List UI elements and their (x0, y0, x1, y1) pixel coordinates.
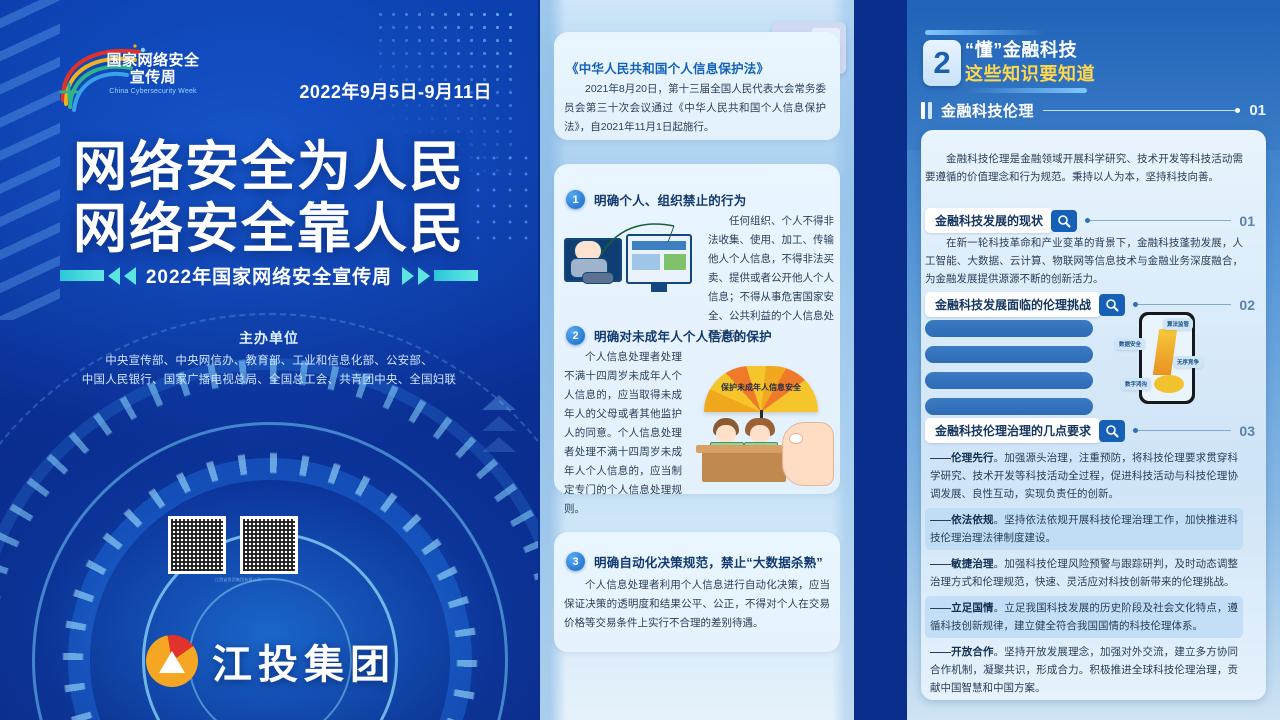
decorative-arrows (482, 395, 516, 452)
subsection-3-number: 03 (1239, 423, 1255, 439)
headline-line-2: 网络安全靠人民 (0, 198, 538, 260)
poster-collage: 国家网络安全 宣传周 China Cybersecurity Week 2022… (0, 0, 1280, 720)
law-body: 2021年8月20日，第十三届全国人民代表大会常务委员会第三十次会议通过《中华人… (564, 80, 826, 137)
subsection-3-header: 金融科技伦理治理的几点要求 03 (925, 418, 1255, 443)
ribbon-text: 2022年国家网络安全宣传周 (146, 262, 392, 289)
placeholder-bar (925, 320, 1093, 337)
placeholder-bar (925, 372, 1093, 389)
requirement-key: 依法依规 (951, 514, 994, 526)
phone-tag-3: 无序竞争 (1173, 356, 1203, 368)
qr-code-row (168, 516, 298, 574)
decorative-bar-under-title (967, 88, 1087, 93)
item-1-title: 明确个人、组织禁止的行为 (594, 190, 746, 209)
item-2-title: 明确对未成年人个人信息的保护 (594, 326, 772, 345)
fintech-intro-text: 金融科技伦理是金融领域开展科学研究、技术开发等科技活动需要遵循的价值理念和行为规… (925, 150, 1243, 186)
item-2-body: 个人信息处理者处理不满十四周岁未成年人个人信息的，应当取得未成年人的父母或者其他… (564, 348, 682, 519)
heading-mark-icon (921, 102, 932, 119)
requirement-item: ——开放合作。坚持开放发展理念，加强对外交流，建立多方协同合作机制，凝聚共识，形… (925, 640, 1243, 700)
hand-holding-umbrella (782, 422, 834, 486)
minors-protection-illustration: 保护未成年人信息安全 (690, 360, 840, 488)
panel3-title-line2: 这些知识要知道 (965, 60, 1095, 86)
qr-code-right[interactable] (240, 516, 298, 574)
requirement-item: ——伦理先行。加强源头治理，注重预防，将科技伦理要求贯穿科学研究、技术开发等科技… (925, 446, 1243, 506)
requirement-key: 开放合作 (951, 646, 994, 658)
cybersecurity-week-logo: 国家网络安全 宣传周 China Cybersecurity Week (55, 42, 205, 114)
panel3-title-line1: “懂”金融科技 (965, 36, 1077, 62)
phone-illustration: 算法监管 数据安全 无序竞争 数字鸿沟 (1115, 312, 1245, 416)
requirement-item: ——立足国情。立足我国科技发展的历史阶段及社会文化特点，遵循科技创新规律，建立健… (925, 596, 1243, 638)
magnifier-icon-3[interactable] (1099, 420, 1125, 442)
subsection-1-title: 金融科技发展的现状 (925, 208, 1053, 233)
list-item-2-header: 2 明确对未成年人个人信息的保护 (566, 326, 772, 345)
item-3-title: 明确自动化决策规范，禁止“大数据杀熟” (594, 552, 823, 571)
phone-tag-2: 数据安全 (1115, 338, 1145, 350)
section-number-badge: 2 (923, 40, 961, 86)
phone-tag-4: 数字鸿沟 (1121, 378, 1151, 390)
section-heading-number: 01 (1249, 102, 1266, 119)
brand-logo-icon (146, 635, 198, 687)
law-title: 《中华人民共和国个人信息保护法》 (566, 58, 769, 77)
requirement-key: 敏捷治理 (951, 558, 994, 570)
desk-shape (702, 452, 786, 482)
item-3-body: 个人信息处理者利用个人信息进行自动化决策，应当保证决策的透明度和结果公平、公正，… (564, 576, 830, 633)
requirement-key: 立足国情 (951, 602, 994, 614)
headline-line-1: 网络安全为人民 (0, 136, 538, 198)
subsection-3-title: 金融科技伦理治理的几点要求 (925, 418, 1101, 443)
panel-cybersecurity-week: 国家网络安全 宣传周 China Cybersecurity Week 2022… (0, 0, 538, 720)
requirement-item: ——敏捷治理。加强科技伦理风险预警与跟踪研判，及时动态调整治理方式和伦理规范，快… (925, 552, 1243, 594)
organizer-list: 中央宣传部、中央网信办、教育部、工业和信息化部、公安部、 中国人民银行、国家广播… (0, 352, 538, 390)
subsection-2-number: 02 (1239, 297, 1255, 313)
logo-title-line1: 国家网络安全 (103, 52, 203, 69)
placeholder-bar-list (925, 320, 1093, 424)
subsection-1-number: 01 (1239, 213, 1255, 229)
qr-code-left[interactable] (168, 516, 226, 574)
placeholder-bar (925, 398, 1093, 415)
company-brand: 江投集团 (146, 632, 396, 690)
hacker-figure (568, 240, 612, 284)
item-2-number: 2 (566, 326, 585, 345)
organizer-line-2: 中国人民银行、国家广播电视总局、全国总工会、共青团中央、全国妇联 (0, 371, 538, 390)
section-heading-row: 金融科技伦理 01 (921, 100, 1266, 121)
requirements-list: ——伦理先行。加强源头治理，注重预防，将科技伦理要求贯穿科学研究、技术开发等科技… (925, 446, 1243, 702)
phishing-illustration (564, 222, 696, 304)
panel-personal-information-law: 《中华人民共和国个人信息保护法》 2021年8月20日，第十三届全国人民代表大会… (540, 0, 854, 720)
subsection-1-body: 在新一轮科技革命和产业变革的背景下，金融科技蓬勃发展，人工智能、大数据、云计算、… (925, 234, 1243, 288)
item-3-number: 3 (566, 552, 585, 571)
list-item-3-header: 3 明确自动化决策规范，禁止“大数据杀熟” (566, 552, 823, 571)
page-title: 网络安全为人民 网络安全靠人民 (0, 136, 538, 260)
requirement-item: ——依法依规。坚持依法依规开展科技伦理治理工作，加快推进科技伦理治理法律制度建设… (925, 508, 1243, 550)
organizer-heading: 主办单位 (0, 328, 538, 348)
subsection-1-header: 金融科技发展的现状 01 (925, 208, 1255, 233)
magnifier-icon-1[interactable] (1051, 210, 1077, 232)
decorative-bar-top (925, 30, 1045, 35)
organizer-line-1: 中央宣传部、中央网信办、教育部、工业和信息化部、公安部、 (0, 352, 538, 371)
brand-name: 江投集团 (212, 632, 396, 690)
list-item-1-header: 1 明确个人、组织禁止的行为 (566, 190, 746, 209)
subsection-2-title: 金融科技发展面临的伦理挑战 (925, 292, 1101, 317)
qr-caption-left: 江西省投资集团有限公司 (168, 577, 308, 583)
event-date: 2022年9月5日-9月11日 (299, 78, 492, 104)
umbrella-label: 保护未成年人信息安全 (704, 382, 818, 393)
placeholder-bar (925, 346, 1093, 363)
subtitle-ribbon: 2022年国家网络安全宣传周 (0, 262, 538, 289)
panel-fintech-ethics: 2 “懂”金融科技 这些知识要知道 金融科技伦理 01 金融科技伦理是金融领域开… (907, 0, 1280, 720)
logo-title-line2: 宣传周 (103, 69, 203, 86)
logo-subtitle: China Cybersecurity Week (103, 88, 203, 95)
section-heading-text: 金融科技伦理 (941, 100, 1034, 121)
item-1-number: 1 (566, 190, 585, 209)
requirement-key: 伦理先行 (951, 452, 994, 464)
phone-tag-1: 算法监管 (1163, 318, 1193, 330)
